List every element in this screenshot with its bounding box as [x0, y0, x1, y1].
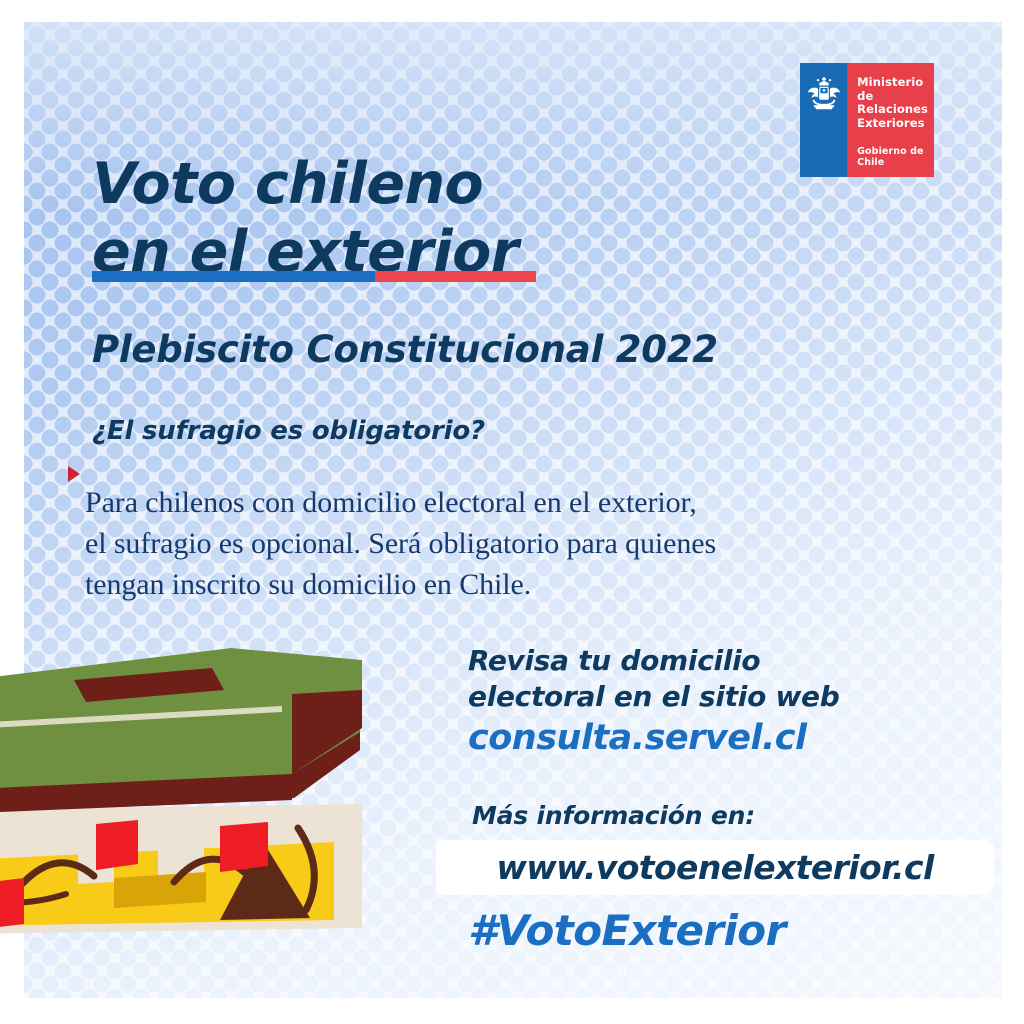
- chile-coat-of-arms-icon: [805, 75, 843, 115]
- question-heading: ¿El sufragio es obligatorio?: [92, 416, 485, 446]
- logo-blue-block: [800, 63, 847, 177]
- cta-servel-link[interactable]: consulta.servel.cl: [468, 717, 988, 759]
- poster-title: Voto chileno en el exterior: [92, 150, 812, 286]
- logo-ministry-name: Ministerio de Relaciones Exteriores: [857, 76, 928, 130]
- more-info-label: Más información en:: [472, 801, 755, 830]
- triangle-right-icon: [68, 466, 80, 482]
- cta-block: Revisa tu domicilio electoral en el siti…: [468, 643, 988, 759]
- logo-red-block: Ministerio de Relaciones Exteriores Gobi…: [847, 63, 934, 177]
- hashtag-text[interactable]: #VotoExterior: [468, 906, 786, 955]
- tricolor-divider: [92, 271, 536, 282]
- main-url-text[interactable]: www.votoenelexterior.cl: [496, 848, 933, 887]
- ballot-box-illustration: [0, 632, 400, 942]
- answer-text: Para chilenos con domicilio electoral en…: [85, 482, 716, 605]
- main-url-box[interactable]: www.votoenelexterior.cl: [436, 840, 994, 895]
- answer-block: Para chilenos con domicilio electoral en…: [68, 452, 978, 635]
- logo-government-label: Gobierno de Chile: [857, 146, 934, 168]
- ministry-logo: Ministerio de Relaciones Exteriores Gobi…: [800, 63, 934, 177]
- divider-red-segment: [375, 271, 536, 282]
- poster-canvas: Ministerio de Relaciones Exteriores Gobi…: [0, 0, 1024, 1024]
- cta-lead-text: Revisa tu domicilio electoral en el siti…: [468, 643, 988, 715]
- divider-blue-segment: [92, 271, 375, 282]
- poster-subtitle: Plebiscito Constitucional 2022: [92, 328, 718, 371]
